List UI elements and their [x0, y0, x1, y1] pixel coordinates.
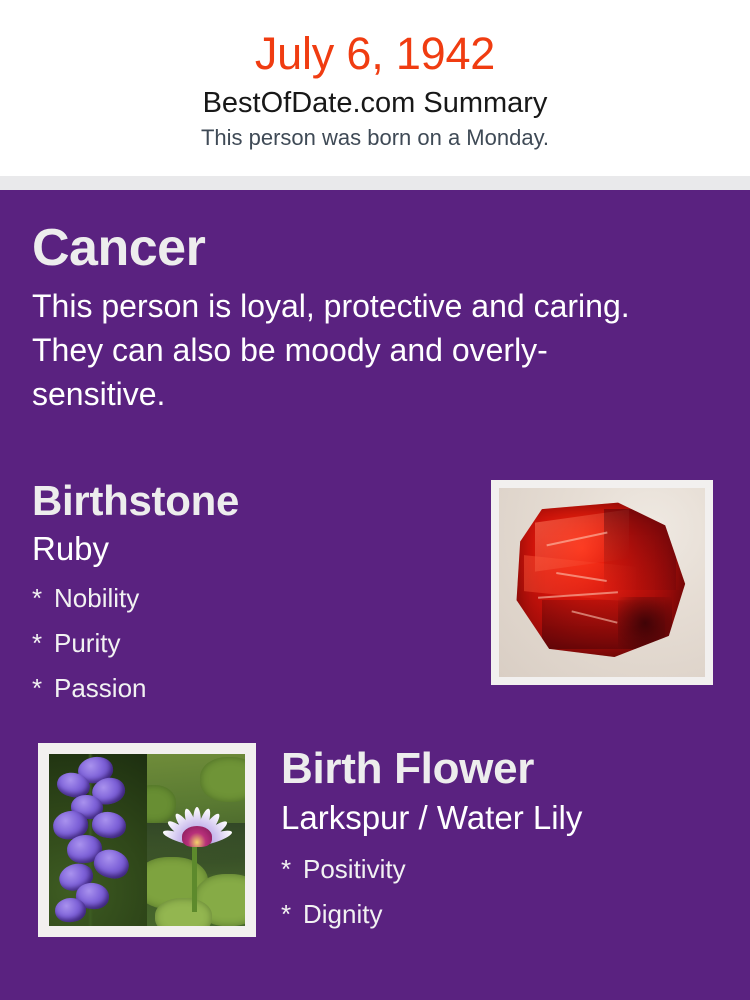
water-lily-bloom [163, 792, 232, 850]
birth-flower-section: Birth Flower Larkspur / Water Lily *Posi… [281, 742, 741, 937]
zodiac-sign-name: Cancer [32, 218, 672, 278]
list-item: *Passion [32, 666, 472, 711]
birth-flower-image-frame [38, 743, 256, 937]
page-title: July 6, 1942 [0, 26, 750, 82]
bullet-star-icon: * [32, 666, 54, 711]
bullet-star-icon: * [281, 892, 303, 937]
birthstone-heading: Birthstone [32, 475, 472, 527]
trait-label: Purity [54, 628, 120, 658]
lily-stamen-center [182, 826, 212, 847]
header-divider [0, 176, 750, 190]
birthstone-section: Birthstone Ruby *Nobility *Purity *Passi… [32, 475, 472, 711]
birth-flower-heading: Birth Flower [281, 742, 741, 796]
ruby-gem-shape [509, 499, 690, 662]
birth-flower-trait-list: *Positivity *Dignity [281, 847, 741, 937]
trait-label: Passion [54, 673, 147, 703]
bullet-star-icon: * [281, 847, 303, 892]
bullet-star-icon: * [32, 576, 54, 621]
water-lily-photo [147, 754, 245, 926]
zodiac-description: This person is loyal, protective and car… [32, 284, 647, 416]
birthstone-image-frame [491, 480, 713, 685]
card-header: July 6, 1942 BestOfDate.com Summary This… [0, 0, 750, 176]
bullet-star-icon: * [32, 621, 54, 666]
site-subtitle: BestOfDate.com Summary [0, 84, 750, 122]
birthstone-value: Ruby [32, 528, 472, 570]
larkspur-blossom [54, 897, 87, 923]
trait-label: Dignity [303, 899, 382, 929]
birthstone-trait-list: *Nobility *Purity *Passion [32, 576, 472, 711]
larkspur-photo [49, 754, 147, 926]
larkspur-blossom [90, 810, 128, 840]
lily-pad [155, 898, 212, 926]
list-item: *Dignity [281, 892, 741, 937]
list-item: *Positivity [281, 847, 741, 892]
list-item: *Purity [32, 621, 472, 666]
ruby-facet [604, 509, 677, 590]
list-item: *Nobility [32, 576, 472, 621]
birth-flower-value: Larkspur / Water Lily [281, 797, 741, 839]
summary-card: July 6, 1942 BestOfDate.com Summary This… [0, 0, 750, 1000]
ruby-crystal-photo [499, 488, 705, 677]
trait-label: Positivity [303, 854, 406, 884]
born-day-text: This person was born on a Monday. [0, 123, 750, 153]
zodiac-section: Cancer This person is loyal, protective … [32, 218, 672, 416]
ruby-facet [618, 597, 672, 649]
larkspur-and-water-lily-photo [49, 754, 245, 926]
trait-label: Nobility [54, 583, 139, 613]
